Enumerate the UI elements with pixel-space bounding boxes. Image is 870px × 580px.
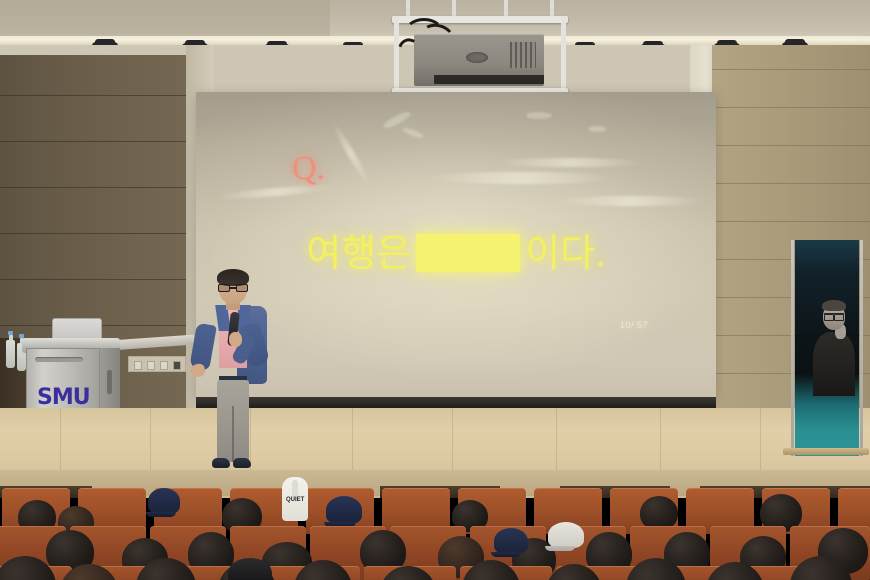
rollup-banner	[795, 240, 859, 456]
banner-base	[783, 448, 869, 455]
banner-portrait-glasses-icon	[824, 313, 844, 318]
banner-portrait	[809, 298, 857, 398]
projection-screen: Q. 여행은이다. 10/ 57	[196, 92, 716, 399]
lecture-hall-scene: Q. 여행은이다. 10/ 57 SMU	[0, 0, 870, 580]
ceiling-shadow	[0, 0, 330, 40]
slide-line-prefix: 여행은	[306, 233, 411, 275]
banner-stand-right	[860, 240, 863, 456]
slide-question-marker: Q.	[292, 152, 325, 186]
presenter-shoe-right	[233, 458, 251, 468]
presenter-shoe-left	[212, 458, 230, 468]
smu-logo: SMU	[37, 387, 90, 409]
screen-bottom-frame	[196, 397, 716, 408]
backpack-logo: QUIET	[286, 497, 304, 504]
audience-cap	[326, 496, 362, 524]
audience-cap	[148, 488, 180, 514]
projector-mount	[392, 0, 568, 100]
white-backpack: QUIET	[282, 477, 308, 521]
water-bottle-icon	[6, 340, 15, 368]
audience-cap	[548, 522, 584, 548]
glasses-icon	[218, 284, 248, 292]
presenter-hand-right	[229, 332, 242, 347]
audience-area: QUIET	[0, 470, 870, 580]
slide-line-suffix: 이다.	[525, 233, 605, 275]
audience-cap	[228, 558, 272, 580]
banner-stand-left	[791, 240, 794, 456]
slide-blank-box	[416, 234, 520, 272]
audience-cap	[494, 528, 528, 554]
presenter	[193, 272, 273, 474]
slide-main-line: 여행은이다.	[196, 234, 716, 273]
audience-head	[640, 496, 678, 530]
banner-canvas	[795, 240, 859, 456]
wall-outlet-panel[interactable]	[128, 356, 186, 372]
slide-page-number: 10/ 57	[620, 320, 648, 330]
